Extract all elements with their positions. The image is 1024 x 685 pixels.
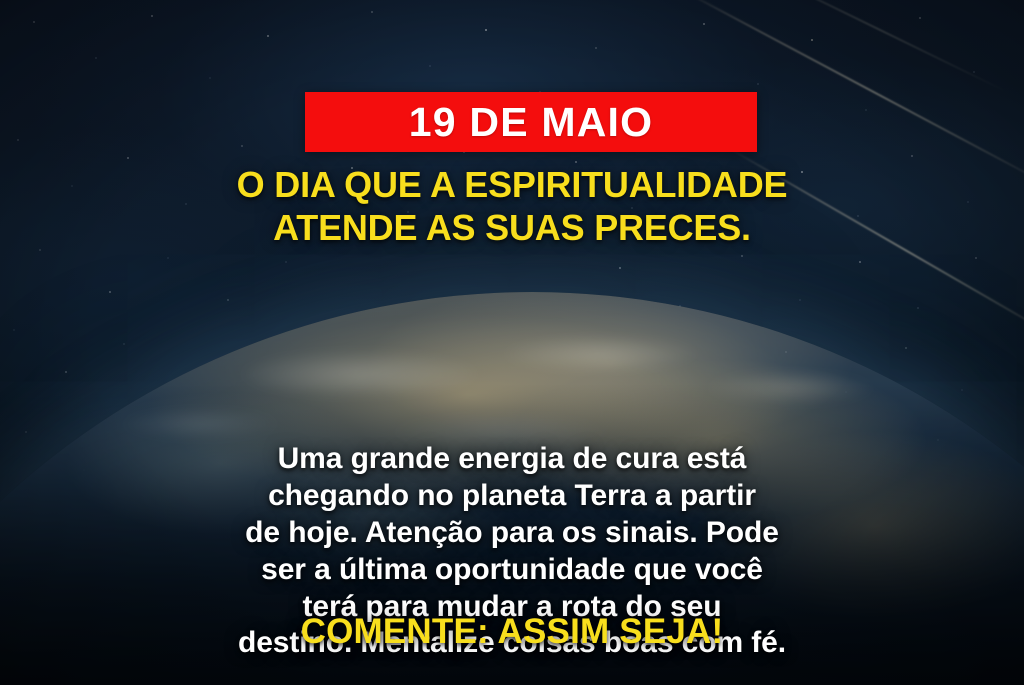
headline-line-1: O DIA QUE A ESPIRITUALIDADE [40, 164, 984, 207]
body-line-3: de hoje. Atenção para os sinais. Pode [48, 515, 976, 552]
poster-content: 19 DE MAIO O DIA QUE A ESPIRITUALIDADE A… [0, 0, 1024, 685]
call-to-action: COMENTE: ASSIM SEJA! [0, 613, 1024, 652]
poster-canvas: 19 DE MAIO O DIA QUE A ESPIRITUALIDADE A… [0, 0, 1024, 685]
body-line-1: Uma grande energia de cura está [48, 441, 976, 478]
call-to-action-label: COMENTE: ASSIM SEJA! [301, 612, 724, 651]
body-line-4: ser a última oportunidade que você [48, 552, 976, 589]
date-banner-label: 19 DE MAIO [409, 102, 653, 143]
date-banner: 19 DE MAIO [305, 92, 757, 152]
body-line-2: chegando no planeta Terra a partir [48, 478, 976, 515]
headline-line-2: ATENDE AS SUAS PRECES. [40, 207, 984, 250]
headline: O DIA QUE A ESPIRITUALIDADE ATENDE AS SU… [0, 164, 1024, 250]
